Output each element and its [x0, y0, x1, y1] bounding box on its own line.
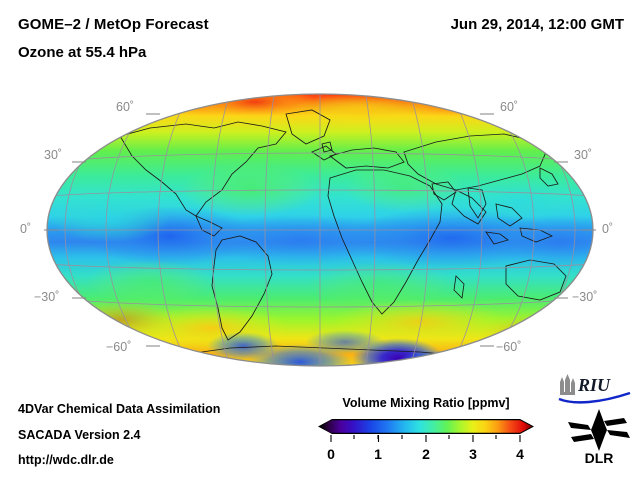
- product-subtitle: Ozone at 55.4 hPa: [18, 44, 146, 61]
- colorbar-tick-1: 1: [374, 446, 382, 462]
- lat-label-0-left: 0˚: [20, 222, 31, 236]
- colorbar-tick-labels: 0 1 2 3 4: [318, 446, 534, 466]
- ozone-forecast-figure: GOME–2 / MetOp Forecast Ozone at 55.4 hP…: [0, 0, 640, 480]
- colorbar-ramp: [320, 420, 532, 433]
- riu-logo: RIU: [556, 372, 634, 406]
- software-version: SACADA Version 2.4: [18, 428, 141, 442]
- colorbar-tick-4: 4: [516, 446, 524, 462]
- forecast-timestamp: Jun 29, 2014, 12:00 GMT: [451, 16, 624, 33]
- riu-wordmark: RIU: [577, 375, 611, 395]
- lat-label-m30-right: −30˚: [572, 290, 597, 304]
- colorbar-tick-3: 3: [469, 446, 477, 462]
- dlr-logo: DLR: [566, 408, 632, 466]
- colorbar: Volume Mixing Ratio [ppmv] 0 1: [318, 396, 534, 472]
- data-center-url[interactable]: http://wdc.dlr.de: [18, 453, 114, 467]
- lat-label-m60-left: −60˚: [106, 340, 131, 354]
- lat-label-30-right: 30˚: [574, 148, 592, 162]
- riu-tower-icon: [560, 374, 575, 395]
- lat-label-0-right: 0˚: [602, 222, 613, 236]
- lat-label-m30-left: −30˚: [34, 290, 59, 304]
- colorbar-tick-2: 2: [422, 446, 430, 462]
- lat-label-m60-right: −60˚: [496, 340, 521, 354]
- assimilation-method: 4DVar Chemical Data Assimilation: [18, 402, 220, 416]
- colorbar-tick-0: 0: [327, 446, 335, 462]
- dlr-wordmark: DLR: [585, 450, 614, 466]
- mollweide-globe: [0, 70, 640, 390]
- lat-label-30-left: 30˚: [44, 148, 62, 162]
- lat-label-60-right: 60˚: [500, 100, 518, 114]
- lat-label-60-left: 60˚: [116, 100, 134, 114]
- dlr-star-icon: [568, 409, 630, 451]
- colorbar-title: Volume Mixing Ratio [ppmv]: [318, 396, 534, 410]
- instrument-title: GOME–2 / MetOp Forecast: [18, 16, 209, 33]
- colorbar-ticks: [331, 435, 520, 442]
- ozone-map: 60˚ 30˚ 0˚ −30˚ −60˚ 60˚ 30˚ 0˚ −30˚ −60…: [0, 70, 640, 390]
